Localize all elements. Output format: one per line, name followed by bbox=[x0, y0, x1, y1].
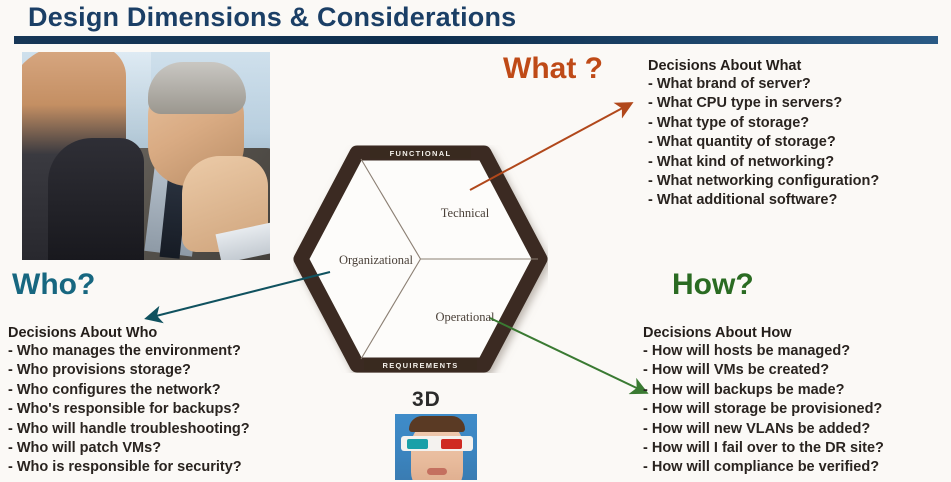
callout-what: What ? bbox=[503, 52, 603, 86]
decisions-about-how-heading: Decisions About How bbox=[643, 325, 884, 341]
decisions-about-what-heading: Decisions About What bbox=[648, 58, 879, 74]
businessman-thinking-photo bbox=[22, 52, 270, 260]
photo-man-hair bbox=[148, 62, 246, 114]
list-item: - How will hosts be managed? bbox=[643, 342, 884, 361]
list-item: - What type of storage? bbox=[648, 114, 879, 133]
hexagon-segment-organizational: Organizational bbox=[339, 253, 414, 267]
glasses-photo-hair bbox=[409, 416, 465, 432]
hexagon-svg: FUNCTIONAL REQUIREMENTS Technical Organi… bbox=[293, 145, 548, 373]
list-item: - What brand of server? bbox=[648, 75, 879, 94]
list-item: - How will compliance be verified? bbox=[643, 458, 884, 477]
callout-who: Who? bbox=[12, 268, 95, 302]
decisions-about-how-list: - How will hosts be managed? - How will … bbox=[643, 342, 884, 478]
page-title: Design Dimensions & Considerations bbox=[28, 2, 516, 33]
dimensions-hexagon-diagram: FUNCTIONAL REQUIREMENTS Technical Organi… bbox=[293, 145, 548, 373]
decisions-about-how-block: Decisions About How - How will hosts be … bbox=[643, 325, 884, 478]
title-divider bbox=[14, 36, 938, 44]
decisions-about-what-block: Decisions About What - What brand of ser… bbox=[648, 58, 879, 211]
list-item: - How will new VLANs be added? bbox=[643, 420, 884, 439]
list-item: - What networking configuration? bbox=[648, 172, 879, 191]
hexagon-top-band-label: FUNCTIONAL bbox=[390, 149, 452, 158]
list-item: - Who manages the environment? bbox=[8, 342, 250, 361]
list-item: - What quantity of storage? bbox=[648, 133, 879, 152]
list-item: - What additional software? bbox=[648, 191, 879, 210]
photo-foreground-person-shoulder bbox=[48, 138, 144, 260]
decisions-about-what-list: - What brand of server? - What CPU type … bbox=[648, 75, 879, 211]
glasses-photo-cyan-lens bbox=[407, 439, 428, 449]
list-item: - Who will patch VMs? bbox=[8, 439, 250, 458]
glasses-photo-red-lens bbox=[441, 439, 462, 449]
list-item: - Who is responsible for security? bbox=[8, 458, 250, 477]
decisions-about-who-block: Decisions About Who - Who manages the en… bbox=[8, 325, 250, 478]
list-item: - Who configures the network? bbox=[8, 381, 250, 400]
three-d-caption: 3D bbox=[412, 388, 441, 412]
decisions-about-who-heading: Decisions About Who bbox=[8, 325, 250, 341]
anaglyph-3d-glasses-photo bbox=[395, 414, 477, 480]
glasses-photo-mouth bbox=[427, 468, 447, 475]
list-item: - How will I fail over to the DR site? bbox=[643, 439, 884, 458]
list-item: - Who provisions storage? bbox=[8, 361, 250, 380]
hexagon-segment-technical: Technical bbox=[441, 206, 490, 220]
list-item: - What kind of networking? bbox=[648, 153, 879, 172]
callout-how: How? bbox=[672, 268, 754, 302]
list-item: - How will VMs be created? bbox=[643, 361, 884, 380]
list-item: - Who will handle troubleshooting? bbox=[8, 420, 250, 439]
slide-canvas: Design Dimensions & Considerations bbox=[0, 0, 951, 482]
decisions-about-who-list: - Who manages the environment? - Who pro… bbox=[8, 342, 250, 478]
list-item: - How will backups be made? bbox=[643, 381, 884, 400]
hexagon-bottom-band-label: REQUIREMENTS bbox=[382, 361, 458, 370]
list-item: - Who's responsible for backups? bbox=[8, 400, 250, 419]
hexagon-segment-operational: Operational bbox=[435, 310, 495, 324]
list-item: - How will storage be provisioned? bbox=[643, 400, 884, 419]
list-item: - What CPU type in servers? bbox=[648, 94, 879, 113]
